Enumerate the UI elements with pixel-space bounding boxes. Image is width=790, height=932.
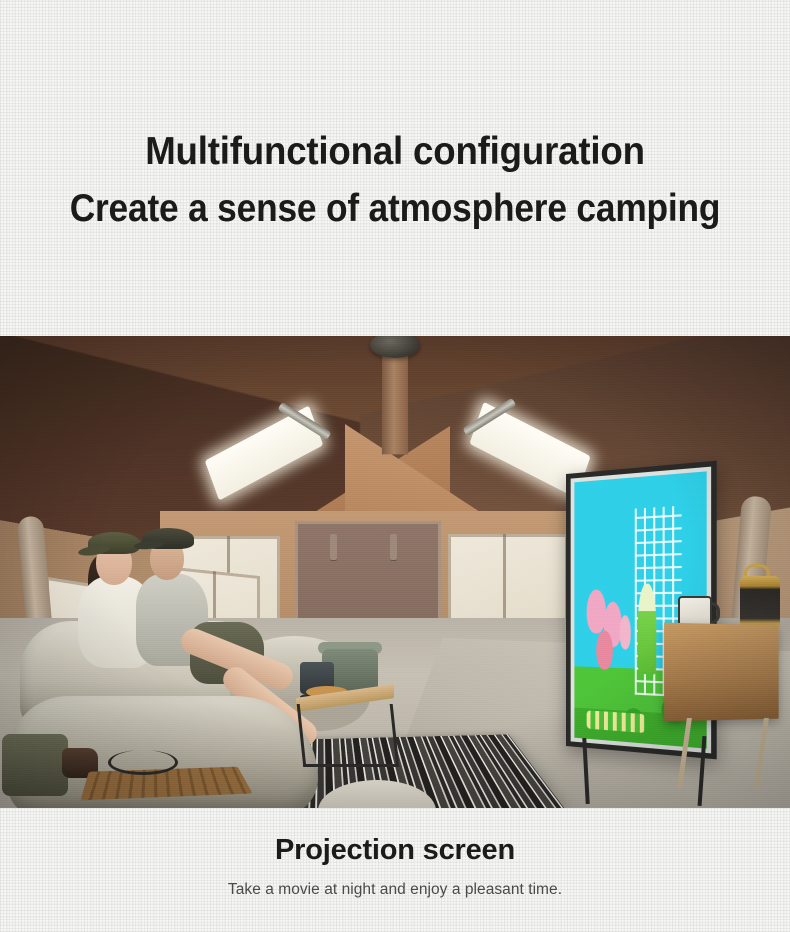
heading-block: Multifunctional configuration Create a s…	[0, 128, 790, 232]
caption-subtitle: Take a movie at night and enjoy a pleasa…	[0, 881, 790, 899]
headline-line-1: Multifunctional configuration	[24, 128, 767, 176]
caption-title: Projection screen	[0, 833, 790, 868]
headline-line-2: Create a sense of atmosphere camping	[38, 185, 753, 233]
caption-block: Projection screen Take a movie at night …	[0, 833, 790, 899]
photo-grain	[0, 336, 790, 808]
tent-interior-photo	[0, 336, 790, 808]
product-feature-page: Multifunctional configuration Create a s…	[0, 0, 790, 932]
